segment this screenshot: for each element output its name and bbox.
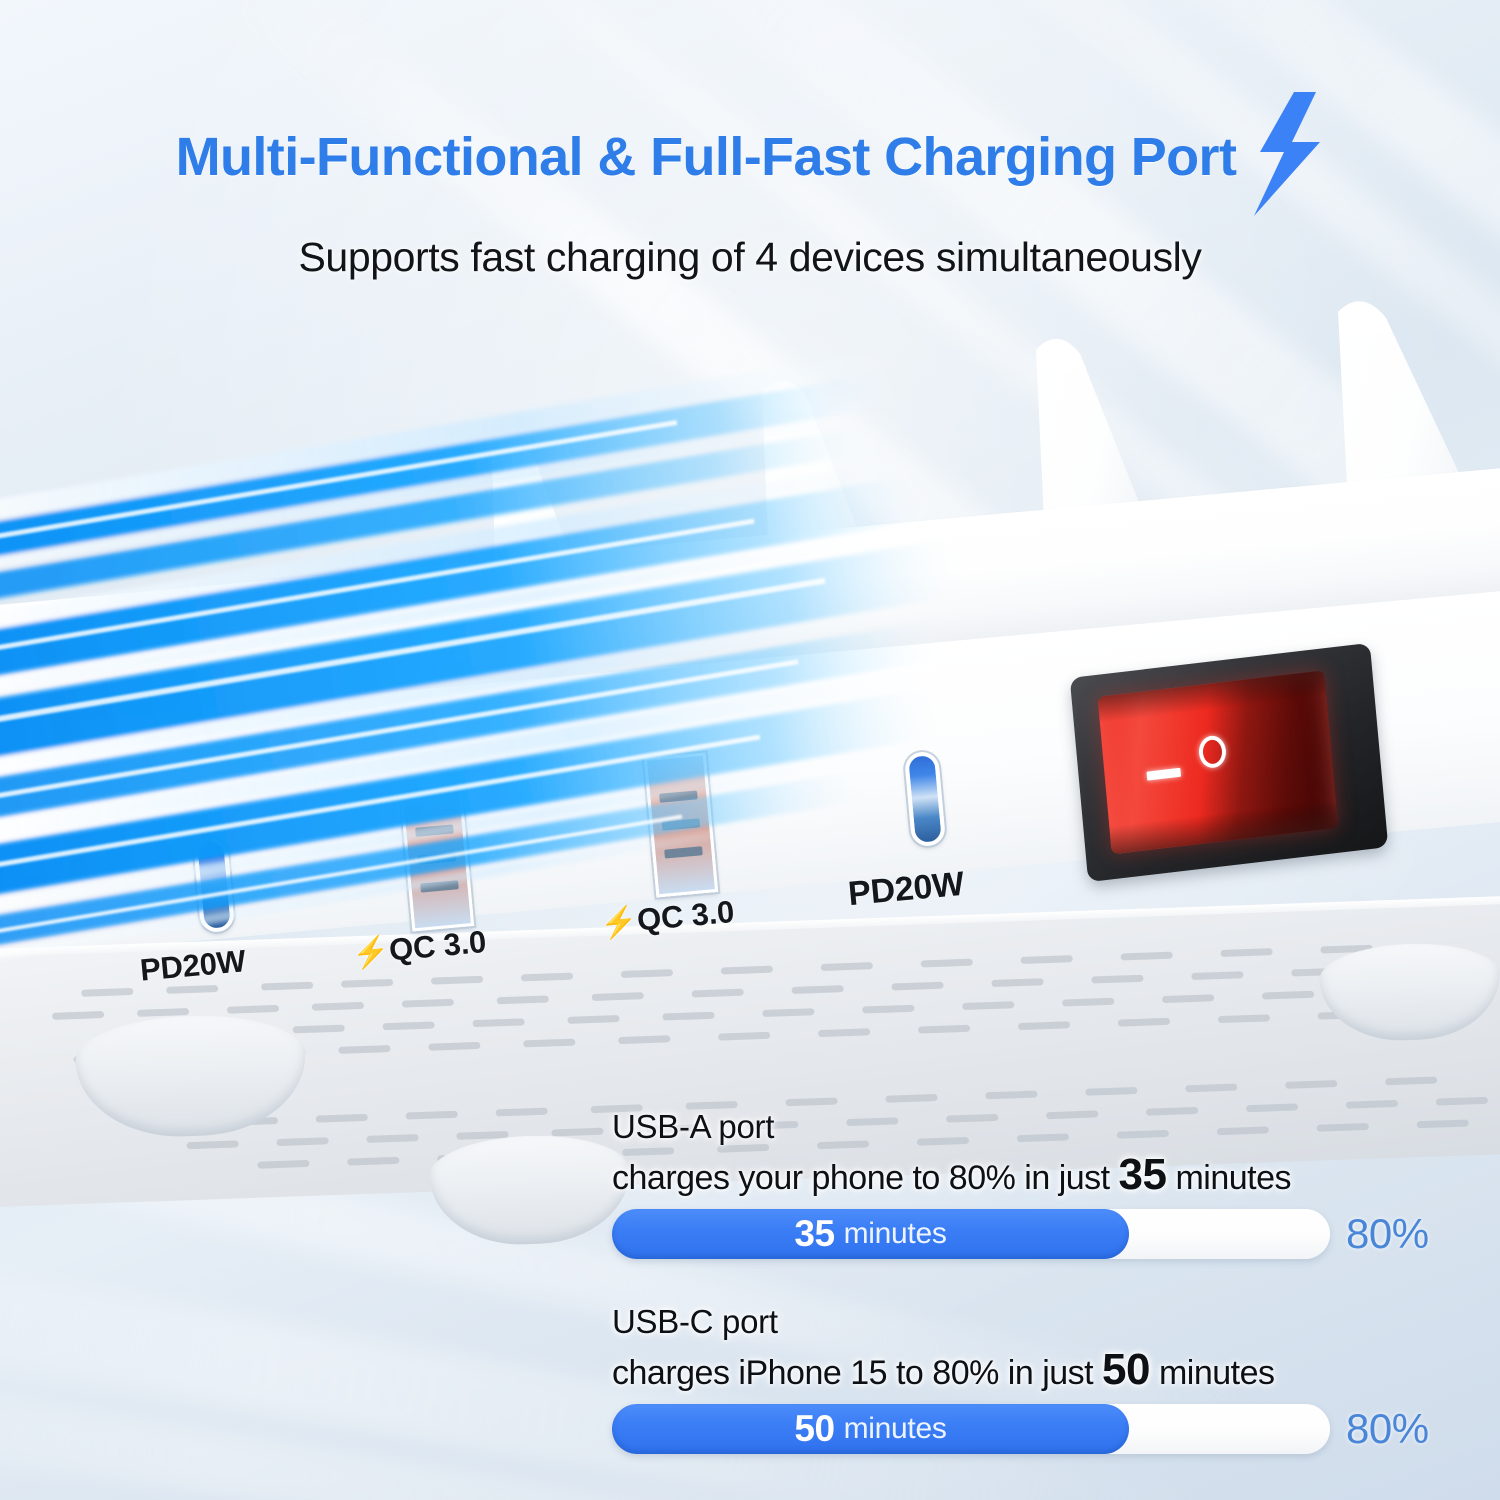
- ventilation-slot: [52, 1011, 104, 1020]
- header-block: Multi-Functional & Full-Fast Charging Po…: [0, 0, 1500, 281]
- ventilation-slot: [521, 973, 573, 982]
- ventilation-slot: [257, 1160, 309, 1169]
- ventilation-slot: [692, 989, 744, 998]
- ventilation-slot: [496, 1108, 548, 1117]
- ventilation-slot: [921, 959, 973, 968]
- progress-bar-percent: 80%: [1346, 1210, 1429, 1258]
- progress-bar-unit: minutes: [844, 1217, 947, 1251]
- ventilation-slot: [1062, 998, 1114, 1007]
- ventilation-slot: [621, 969, 673, 978]
- ventilation-slot: [792, 985, 844, 994]
- ventilation-slot: [1021, 955, 1073, 964]
- bolt-icon: ⚡: [351, 935, 391, 971]
- progress-bar-percent: 80%: [1346, 1405, 1429, 1453]
- progress-bar-row: 35 minutes 80%: [612, 1209, 1442, 1259]
- ventilation-slot: [862, 1005, 914, 1014]
- ventilation-slot: [406, 1111, 458, 1120]
- ventilation-slot: [1385, 1077, 1437, 1086]
- usb-a-port-1[interactable]: [400, 786, 474, 931]
- headline-row: Multi-Functional & Full-Fast Charging Po…: [0, 0, 1500, 218]
- ventilation-slot: [81, 988, 133, 997]
- progress-bar-track: 50 minutes: [612, 1404, 1330, 1454]
- ventilation-slot: [166, 985, 218, 994]
- callout-usb-c: USB-C port charges iPhone 15 to 80% in j…: [612, 1303, 1442, 1454]
- progress-bar-unit: minutes: [844, 1412, 947, 1446]
- ventilation-slot: [293, 1025, 345, 1034]
- bolt-icon: ⚡: [599, 905, 639, 941]
- page-subtitle: Supports fast charging of 4 devices simu…: [0, 234, 1500, 281]
- usb-a-port-2[interactable]: [644, 752, 718, 897]
- ventilation-slot: [662, 1012, 714, 1021]
- ventilation-slot: [1162, 994, 1214, 1003]
- ventilation-slot: [366, 1134, 418, 1143]
- ventilation-slot: [341, 979, 393, 988]
- product-image-stage: PD20W ⚡QC 3.0 ⚡QC 3.0 PD20W: [0, 0, 1500, 1500]
- ventilation-slot: [383, 1021, 435, 1030]
- ventilation-slot: [347, 1157, 399, 1166]
- callout-description: charges iPhone 15 to 80% in just 50 minu…: [612, 1345, 1442, 1395]
- ventilation-slot: [821, 962, 873, 971]
- callout-title: USB-A port: [612, 1108, 1442, 1146]
- ventilation-slot: [1220, 948, 1272, 957]
- ventilation-slot: [891, 982, 943, 991]
- ventilation-slot: [472, 1018, 524, 1027]
- lightning-bolt-icon: [1250, 90, 1324, 218]
- ventilation-slot: [277, 1137, 329, 1146]
- callout-highlight-value: 35: [1119, 1150, 1167, 1199]
- ventilation-slot: [1185, 1084, 1237, 1093]
- ventilation-slot: [1285, 1080, 1337, 1089]
- callout-highlight-value: 50: [1102, 1345, 1150, 1394]
- ventilation-slot: [592, 992, 644, 1001]
- ventilation-slot: [187, 1140, 239, 1149]
- switch-off-mark-icon: [1198, 734, 1228, 769]
- switch-rocker-illuminated[interactable]: [1098, 670, 1339, 854]
- ventilation-slot: [431, 976, 483, 985]
- ventilation-slot: [718, 1032, 770, 1041]
- ventilation-slot: [1091, 975, 1143, 984]
- ventilation-slot: [1262, 991, 1314, 1000]
- ventilation-slot: [227, 1005, 279, 1014]
- ventilation-slot: [618, 1035, 670, 1044]
- progress-bar-track: 35 minutes: [612, 1209, 1330, 1259]
- ventilation-slot: [985, 1090, 1037, 1099]
- ventilation-slot: [316, 1114, 368, 1123]
- ventilation-slot: [1085, 1087, 1137, 1096]
- ventilation-slot: [762, 1008, 814, 1017]
- ventilation-slot: [818, 1028, 870, 1037]
- ventilation-slot: [1121, 952, 1173, 961]
- ventilation-slot: [523, 1039, 575, 1048]
- callout-title: USB-C port: [612, 1303, 1442, 1341]
- callout-description: charges your phone to 80% in just 35 min…: [612, 1150, 1442, 1200]
- ventilation-slot: [962, 1001, 1014, 1010]
- ventilation-slot: [785, 1097, 837, 1106]
- ventilation-slot: [918, 1025, 970, 1034]
- ventilation-slot: [1118, 1018, 1170, 1027]
- callout-usb-a: USB-A port charges your phone to 80% in …: [612, 1108, 1442, 1259]
- ventilation-slot: [1018, 1021, 1070, 1030]
- progress-bar-row: 50 minutes 80%: [612, 1404, 1442, 1454]
- ventilation-slot: [338, 1045, 390, 1054]
- progress-bar-fill: 50 minutes: [612, 1404, 1129, 1454]
- ventilation-slot: [721, 966, 773, 975]
- progress-bar-fill: 35 minutes: [612, 1209, 1129, 1259]
- ventilation-slot: [428, 1042, 480, 1051]
- ventilation-slot: [497, 995, 549, 1004]
- ventilation-slot: [261, 982, 313, 991]
- ventilation-slot: [991, 978, 1043, 987]
- page-title: Multi-Functional & Full-Fast Charging Po…: [176, 126, 1237, 188]
- ventilation-slot: [567, 1015, 619, 1024]
- ventilation-slot: [885, 1094, 937, 1103]
- ventilation-slot: [402, 999, 454, 1008]
- ventilation-slot: [312, 1002, 364, 1011]
- progress-bar-value: 50: [794, 1408, 834, 1450]
- progress-bar-value: 35: [794, 1213, 834, 1255]
- switch-on-mark-icon: [1146, 768, 1181, 781]
- ventilation-slot: [1436, 1097, 1488, 1106]
- ventilation-slot: [1218, 1014, 1270, 1023]
- power-rocker-switch[interactable]: [1070, 643, 1389, 882]
- ventilation-slot: [1191, 971, 1243, 980]
- ventilation-slot: [551, 1128, 603, 1137]
